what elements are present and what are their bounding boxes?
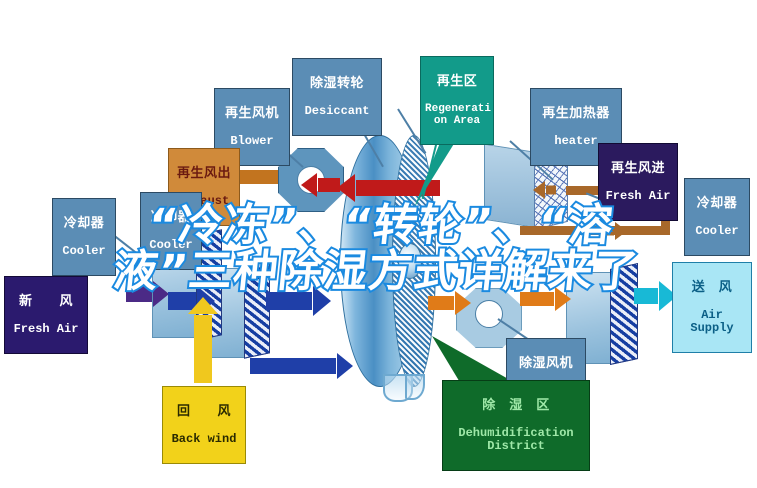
label-cooler-mid: 冷却器 Cooler [140, 192, 202, 270]
desiccant-rotor-hub [398, 243, 422, 279]
arrow-regen-hot-2 [318, 178, 340, 192]
label-cooler-far-right: 冷却器 Cooler [684, 178, 750, 256]
label-back-wind: 回 风 Back wind [162, 386, 246, 464]
arrow-exhaust-out [234, 170, 278, 184]
regen-duct-horizontal-bottom [520, 226, 670, 235]
arrow-regen-duct-head-left [546, 186, 556, 195]
arrow-air-supply [634, 288, 658, 304]
arrow-fresh-air-in [126, 286, 152, 302]
arrow-dehumid-in [428, 296, 454, 310]
label-regeneration-area: 再生区 Regenerati on Area [420, 56, 494, 145]
supply-cooler-coil [610, 263, 638, 365]
rotor-drive-pulley [405, 374, 425, 400]
label-desiccant-wheel: 除湿转轮 Desiccant [292, 58, 382, 136]
arrow-dehumid-out [520, 292, 554, 306]
arrow-regen-duct-head-right [600, 226, 614, 235]
arrow-back-wind [194, 315, 212, 383]
label-regeneration-inlet: 再生风进 Fresh Air [598, 143, 678, 221]
dehumidifier-diagram: XIN [0, 0, 757, 488]
label-air-supply: 送 风 Air Supply [672, 262, 752, 353]
label-cooler-left: 冷却器 Cooler [52, 198, 116, 276]
arrow-process-2 [266, 292, 312, 310]
label-fresh-air-inlet: 新 风 Fresh Air [4, 276, 88, 354]
arrow-process-3 [250, 358, 336, 374]
label-dehumid-district: 除 湿 区 Dehumidification District [442, 380, 590, 471]
dehumid-blower-hub [475, 300, 503, 328]
